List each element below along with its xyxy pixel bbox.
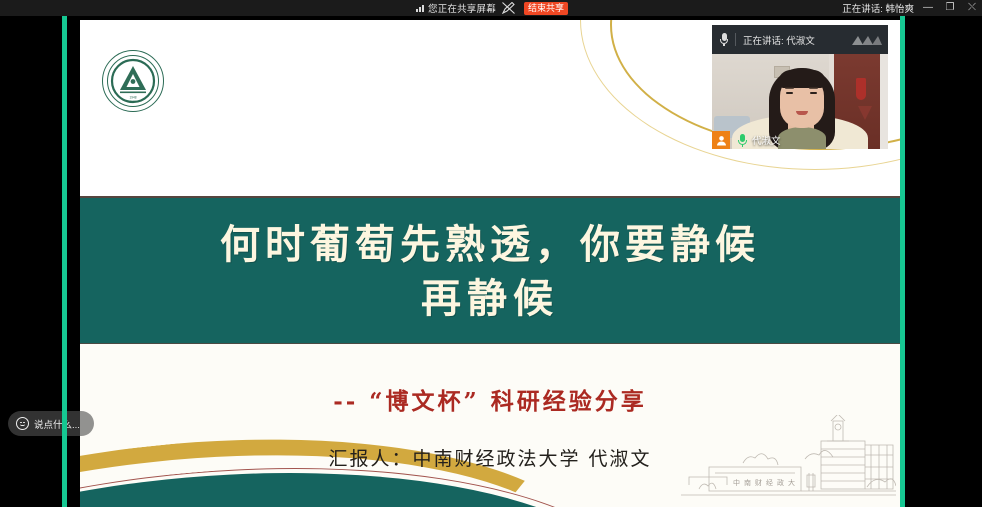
close-button[interactable]: ⤬ bbox=[966, 3, 978, 13]
svg-text:1948: 1948 bbox=[129, 96, 136, 100]
microphone-icon bbox=[720, 33, 728, 46]
video-person-brow-left bbox=[785, 87, 794, 89]
share-frame-right-edge bbox=[900, 0, 905, 507]
toolbar-divider bbox=[492, 3, 493, 13]
svg-text:经: 经 bbox=[766, 478, 773, 487]
comment-input-bubble[interactable]: 说点什么... bbox=[8, 411, 94, 436]
smiley-icon[interactable] bbox=[16, 417, 29, 430]
video-speaking-label: 正在讲话: 代淑文 bbox=[743, 33, 815, 47]
screen-share-window: 1948 ZUEL 何时葡萄先熟透，你要静候 再静候 -- “博文杯” 科研经验… bbox=[0, 0, 982, 507]
banner-top-rule bbox=[80, 196, 900, 198]
slide-subtitle: -- “博文杯” 科研经验分享 bbox=[80, 382, 900, 416]
video-panel-footer: 代淑文 bbox=[712, 131, 888, 149]
svg-text:南: 南 bbox=[744, 478, 751, 487]
video-person-brow-right bbox=[809, 87, 818, 89]
share-status-text: 您正在共享屏幕 bbox=[428, 1, 496, 15]
annotate-pen-icon[interactable] bbox=[500, 1, 516, 15]
meeting-toolbar: 您正在共享屏幕 结束共享 正在讲话: 韩怡爽 — ❐ ⤬ bbox=[0, 0, 982, 16]
slide-title-line-2: 再静候 bbox=[421, 272, 559, 326]
share-frame-left-edge bbox=[62, 0, 67, 507]
video-feed: 代淑文 bbox=[712, 54, 888, 149]
video-participant-name: 代淑文 bbox=[752, 133, 781, 147]
svg-text:ZUEL: ZUEL bbox=[130, 100, 137, 104]
video-background-hanging-item bbox=[856, 78, 866, 100]
university-emblem: 1948 ZUEL bbox=[102, 50, 164, 112]
svg-text:政: 政 bbox=[777, 478, 784, 487]
window-controls: — ❐ ⤬ bbox=[922, 0, 978, 16]
signal-bars-icon bbox=[416, 4, 424, 12]
campus-gate-line-art-icon: 中 南 财 经 政 大 bbox=[681, 415, 896, 507]
slide-title-banner: 何时葡萄先熟透，你要静候 再静候 bbox=[80, 196, 900, 344]
video-background-tassel bbox=[858, 106, 872, 120]
end-share-button[interactable]: 结束共享 bbox=[524, 2, 568, 15]
participant-video-panel[interactable]: 正在讲话: 代淑文 bbox=[712, 25, 888, 149]
microphone-active-icon bbox=[738, 134, 747, 147]
slide-footer-area: -- “博文杯” 科研经验分享 汇报人：中南财经政法大学 代淑文 bbox=[80, 344, 900, 507]
svg-text:财: 财 bbox=[755, 478, 762, 487]
participant-icon bbox=[712, 131, 730, 149]
restore-button[interactable]: ❐ bbox=[944, 3, 956, 13]
header-divider bbox=[735, 33, 736, 46]
minimize-button[interactable]: — bbox=[922, 3, 934, 13]
brand-mark-icon bbox=[852, 34, 882, 46]
banner-bottom-rule bbox=[80, 343, 900, 345]
svg-text:大: 大 bbox=[788, 478, 795, 487]
share-status-group: 您正在共享屏幕 bbox=[416, 0, 496, 16]
slide-title-line-1: 何时葡萄先熟透，你要静候 bbox=[220, 218, 760, 272]
comment-input-placeholder: 说点什么... bbox=[34, 417, 80, 431]
active-speaker-label: 正在讲话: 韩怡爽 bbox=[842, 0, 914, 16]
video-panel-header: 正在讲话: 代淑文 bbox=[712, 25, 888, 54]
svg-text:中: 中 bbox=[733, 478, 740, 487]
video-person-fringe bbox=[778, 70, 826, 88]
